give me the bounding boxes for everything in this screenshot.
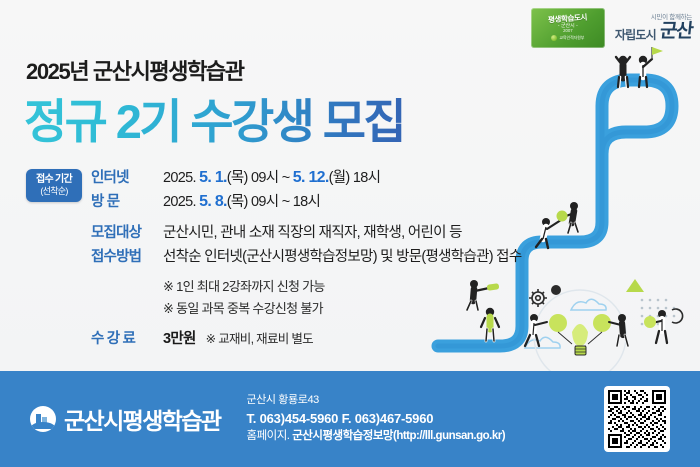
row-method-label: 접수방법	[91, 245, 163, 266]
row-internet: 인터넷 2025. 5. 1.(목) 09시 ~ 5. 12.(월) 18시	[91, 166, 496, 187]
spacer-1	[91, 214, 496, 221]
footer-homepage: 홈페이지. 군산시평생학습정보망(http://lll.gunsan.go.kr…	[246, 428, 505, 445]
gear-icons	[529, 289, 547, 307]
internet-end-date: 5. 12.	[293, 169, 329, 186]
info-rows: 인터넷 2025. 5. 1.(목) 09시 ~ 5. 12.(월) 18시 방…	[91, 166, 496, 348]
lifelong-center-mark-icon	[30, 406, 56, 432]
city-brand-line1: 자립도시	[615, 29, 656, 41]
qr-code-svg[interactable]	[608, 390, 666, 448]
lifelong-learning-city-logo: 평생학습도시 - 군산시 - 2007 교육인적자원부	[531, 8, 605, 48]
row-note-2: ※ 동일 과목 중복 수강신청 불가	[91, 298, 496, 317]
row-method: 접수방법 선착순 인터넷(군산시평생학습정보망) 및 방문(평생학습관) 접수	[91, 245, 496, 266]
internet-prefix: 2025.	[163, 170, 199, 186]
spacer-2	[91, 269, 496, 276]
note-1-text: ※ 1인 최대 2강좌까지 신청 가능	[163, 276, 325, 295]
fee-amount: 3만원	[163, 331, 196, 347]
row-target-label: 모집대상	[91, 221, 163, 242]
badge-line-1: 접수 기간	[26, 174, 82, 186]
footer-homepage-label: 홈페이지.	[246, 430, 292, 442]
group-balloon-scene	[525, 290, 667, 376]
row-internet-label: 인터넷	[91, 166, 163, 187]
ministry-row: 교육인적자원부	[551, 35, 584, 41]
triangle-accent	[626, 279, 644, 292]
row-internet-value: 2025. 5. 1.(목) 09시 ~ 5. 12.(월) 18시	[163, 166, 380, 187]
poster-canvas: 평생학습도시 - 군산시 - 2007 교육인적자원부 시민이 함께하는 자립도…	[0, 0, 700, 467]
application-period-badge: 접수 기간 (선착순)	[26, 169, 82, 202]
mark-wave	[30, 422, 56, 429]
row-fee-label: 수 강 료	[91, 327, 163, 348]
visit-start-date: 5. 8.	[199, 193, 227, 210]
footer-phones: T. 063)454-5960 F. 063)467-5960	[246, 409, 505, 429]
row-target-value: 군산시민, 관내 소재 직장의 재직자, 재학생, 어린이 등	[163, 221, 462, 242]
row-fee: 수 강 료 3만원※ 교재비, 재료비 별도	[91, 327, 496, 348]
logo-group: 평생학습도시 - 군산시 - 2007 교육인적자원부 시민이 함께하는 자립도…	[531, 8, 692, 48]
internet-start-date: 5. 1.	[199, 169, 227, 186]
city-brand-line2: 군산	[659, 22, 693, 41]
footer-homepage-value[interactable]: 군산시평생학습정보망(http://lll.gunsan.go.kr)	[292, 430, 505, 442]
lifelong-city-year: 2007	[563, 29, 573, 34]
visit-prefix: 2025.	[163, 194, 199, 210]
visit-mid: (목) 09시 ~ 18시	[227, 194, 320, 210]
spacer-3	[91, 320, 496, 327]
poster-headline: 정규 2기 수강생 모집	[24, 83, 404, 152]
poster-kicker: 2025년 군산시평생학습관	[26, 54, 244, 86]
ministry-emblem-icon	[551, 35, 557, 41]
footer-contact-block: 군산시 황룡로43 T. 063)454-5960 F. 063)467-596…	[246, 392, 505, 445]
gunsan-city-brand-logo: 시민이 함께하는 자립도시 군산	[615, 15, 692, 42]
fee-note: ※ 교재비, 재료비 별도	[206, 332, 313, 346]
badge-line-2: (선착순)	[26, 186, 82, 196]
footer-address: 군산시 황룡로43	[246, 392, 505, 409]
row-visit-value: 2025. 5. 8.(목) 09시 ~ 18시	[163, 190, 320, 211]
internet-suffix: (월) 18시	[329, 170, 381, 186]
footer-bar: 군산시평생학습관 군산시 황룡로43 T. 063)454-5960 F. 06…	[0, 371, 700, 467]
row-visit: 방 문 2025. 5. 8.(목) 09시 ~ 18시	[91, 190, 496, 211]
row-visit-label: 방 문	[91, 190, 163, 211]
city-brand-row: 자립도시 군산	[615, 22, 692, 41]
row-fee-value: 3만원※ 교재비, 재료비 별도	[163, 327, 313, 348]
row-method-value: 선착순 인터넷(군산시평생학습정보망) 및 방문(평생학습관) 접수	[163, 245, 521, 266]
ministry-label: 교육인적자원부	[559, 36, 584, 40]
note-2-text: ※ 동일 과목 중복 수강신청 불가	[163, 298, 323, 317]
dot-accent	[551, 285, 561, 295]
cloud-icon-2	[525, 337, 560, 348]
row-target: 모집대상 군산시민, 관내 소재 직장의 재직자, 재학생, 어린이 등	[91, 221, 496, 242]
qr-code[interactable]	[604, 386, 670, 452]
footer-org-name: 군산시평생학습관	[64, 402, 220, 436]
footer-org-logo: 군산시평생학습관	[30, 402, 220, 436]
row-note-1: ※ 1인 최대 2강좌까지 신청 가능	[91, 276, 496, 295]
info-block: 접수 기간 (선착순) 인터넷 2025. 5. 1.(목) 09시 ~ 5. …	[26, 166, 496, 351]
cloud-icon-1	[571, 299, 606, 310]
internet-mid: (목) 09시 ~	[227, 170, 293, 186]
